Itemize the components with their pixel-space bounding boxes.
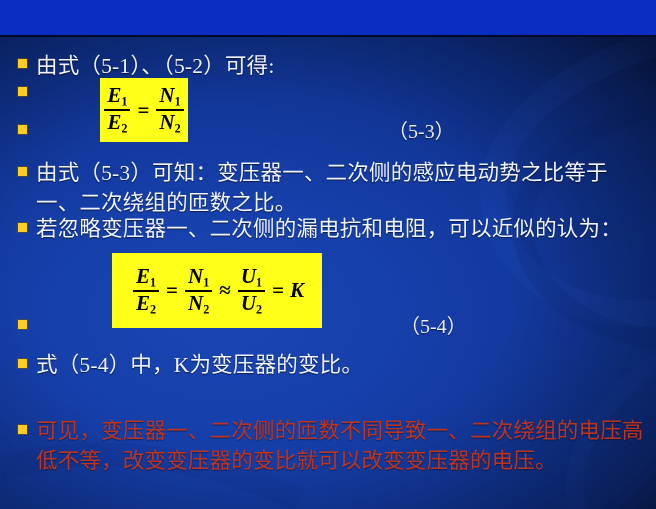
subscript-2: 2: [121, 121, 127, 135]
subscript-2: 2: [256, 302, 262, 316]
bullet-text-5: 若忽略变压器一、二次侧的漏电抗和电阻，可以近似的认为：: [36, 214, 652, 244]
bullet-square-icon: [18, 359, 27, 368]
formula-label-5-3: （5-3）: [388, 115, 455, 144]
fraction-denominator: N2: [156, 111, 183, 136]
fraction-denominator: E2: [104, 111, 130, 136]
subscript-1: 1: [256, 275, 262, 289]
fraction-denominator: U2: [238, 292, 265, 317]
fraction-numerator: N1: [156, 84, 183, 111]
bullet-square-icon: [18, 320, 27, 329]
slide-canvas: 由式（5-1）、（5-2）可得: E1 E2 = N1 N2 （5-3）: [0, 0, 656, 509]
fraction-numerator: E1: [133, 265, 159, 292]
slide-header-band: [0, 0, 656, 37]
formula-box-5-3: E1 E2 = N1 N2: [100, 78, 188, 142]
subscript-2: 2: [175, 121, 181, 135]
equals-operator: =: [272, 280, 284, 301]
bullet-square-icon: [18, 59, 27, 68]
bullet-square-icon: [18, 223, 27, 232]
subscript-2: 2: [203, 302, 209, 316]
subscript-1: 1: [150, 275, 156, 289]
fraction-numerator: N1: [185, 265, 212, 292]
subscript-2: 2: [150, 302, 156, 316]
fraction-denominator: N2: [185, 292, 212, 317]
fraction-U1-U2: U1 U2: [238, 265, 265, 317]
variable-K: K: [290, 278, 304, 303]
fraction-N1-N2: N1 N2: [185, 265, 212, 317]
equals-operator: =: [137, 100, 149, 121]
bullet-square-icon: [18, 167, 27, 176]
equals-operator: =: [166, 280, 178, 301]
bullet-text-8: 可见，变压器一、二次侧的匝数不同导致一、二次绕组的电压高低不等，改变变压器的变比…: [36, 416, 652, 476]
slide-content: 由式（5-1）、（5-2）可得: E1 E2 = N1 N2 （5-3）: [0, 37, 656, 509]
fraction-numerator: U1: [238, 265, 265, 292]
formula-box-5-4: E1 E2 = N1 N2 ≈ U1 U2 = K: [112, 253, 322, 328]
bullet-text-1: 由式（5-1）、（5-2）可得:: [36, 51, 636, 81]
bullet-text-4: 由式（5-3）可知：变压器一、二次侧的感应电动势之比等于一、二次绕组的匝数之比。: [36, 158, 650, 218]
bullet-text-7: 式（5-4）中，K为变压器的变比。: [36, 350, 646, 380]
approx-operator: ≈: [219, 280, 231, 301]
fraction-E1-E2: E1 E2: [133, 265, 159, 317]
fraction-numerator: E1: [104, 84, 130, 111]
formula-label-5-4: （5-4）: [400, 310, 467, 339]
bullet-square-icon: [18, 87, 27, 96]
subscript-1: 1: [121, 95, 127, 109]
subscript-1: 1: [203, 275, 209, 289]
fraction-denominator: E2: [133, 292, 159, 317]
fraction-E1-E2: E1 E2: [104, 84, 130, 136]
subscript-1: 1: [175, 95, 181, 109]
fraction-N1-N2: N1 N2: [156, 84, 183, 136]
bullet-square-icon: [18, 425, 27, 434]
bullet-square-icon: [18, 125, 27, 134]
